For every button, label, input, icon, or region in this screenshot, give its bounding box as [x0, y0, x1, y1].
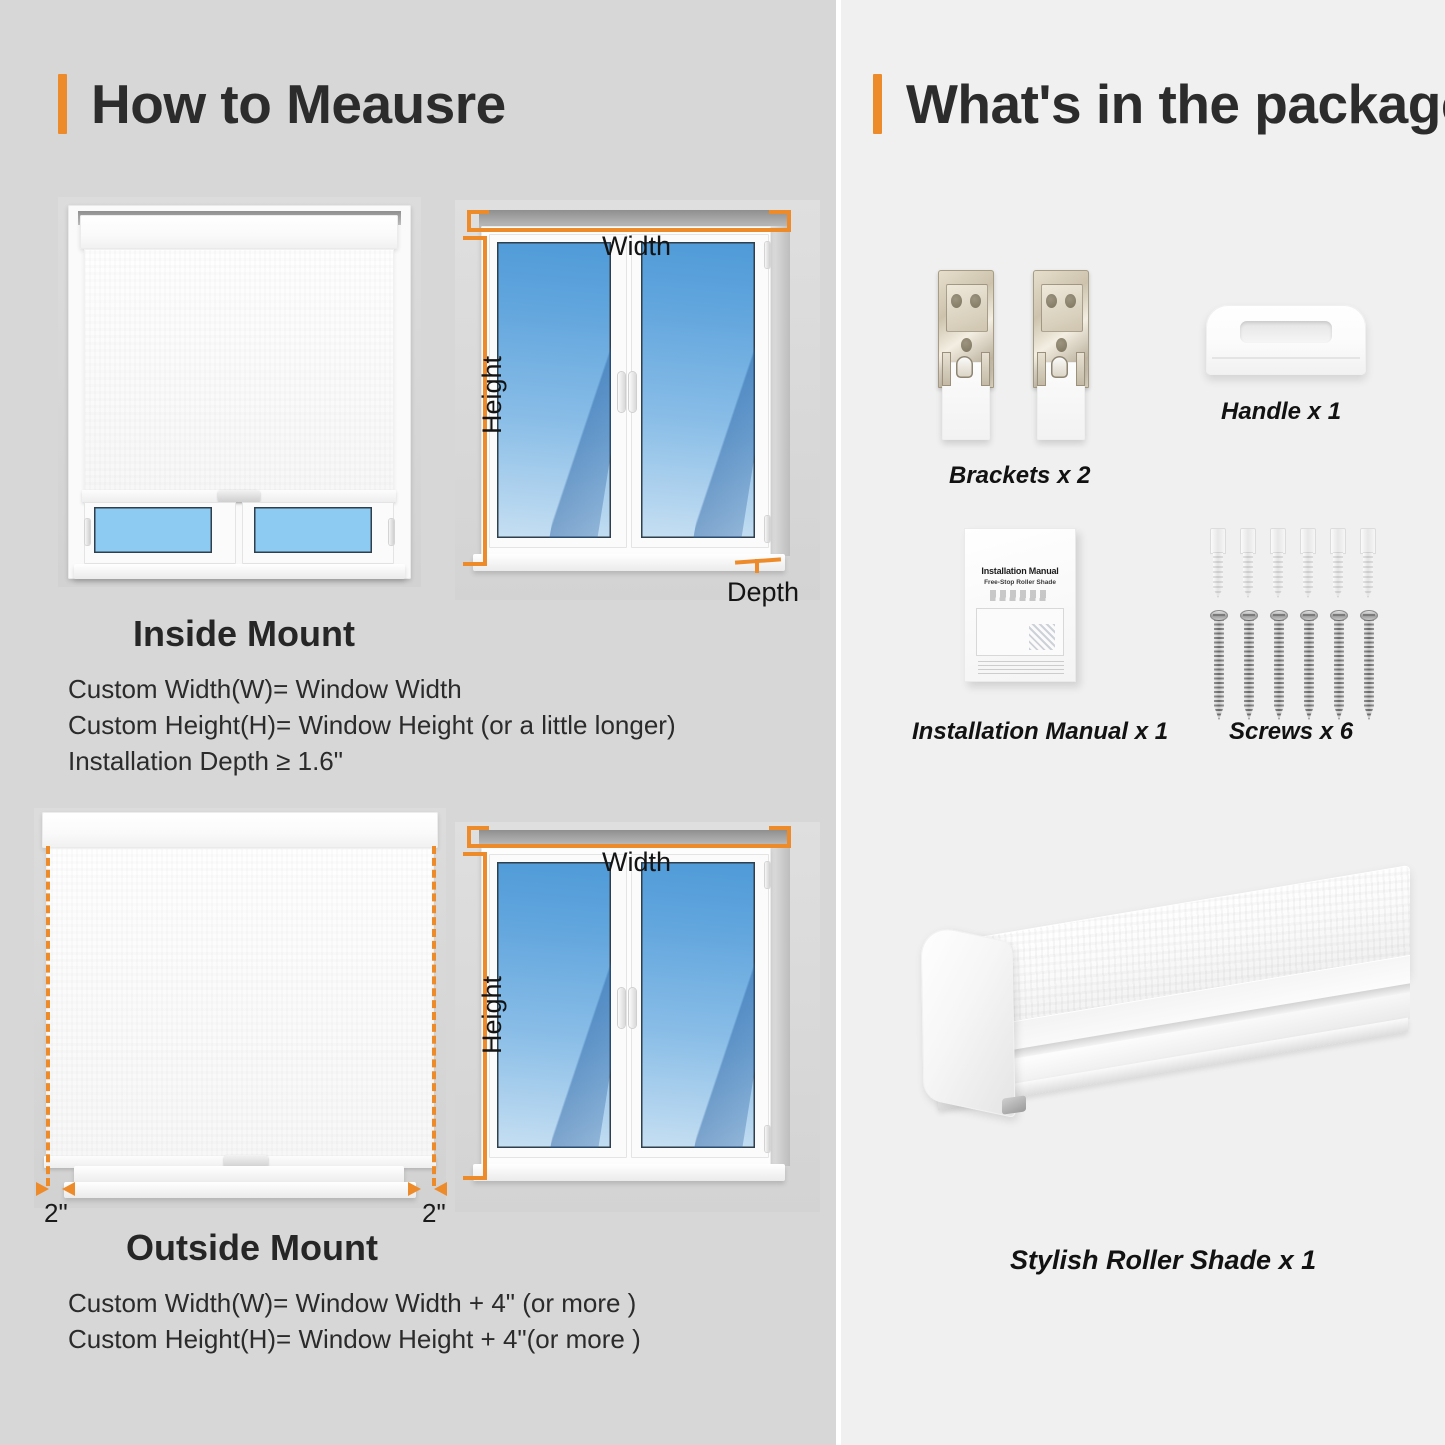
outside-mount-line-1: Custom Width(W)= Window Width + 4" (or m… [68, 1285, 641, 1321]
screw-icon [1330, 610, 1348, 722]
window-hinge-left [85, 519, 90, 545]
window-glass-right [641, 242, 755, 538]
manual-label: Installation Manual x 1 [912, 718, 1168, 746]
window-glass-left [497, 862, 611, 1148]
roller-shade-metal-clip [1002, 1095, 1026, 1114]
inside-mount-description: Custom Width(W)= Window Width Custom Hei… [68, 671, 676, 779]
accent-bar-icon [58, 74, 67, 134]
bracket-hole [1046, 294, 1057, 308]
wall-anchor-icon [1238, 528, 1258, 598]
window-hinge-top-right [765, 242, 770, 268]
window-hinge-top-right [765, 862, 770, 888]
left-overhang-arrow-in [36, 1182, 49, 1196]
window-handle-right [629, 372, 636, 412]
how-to-measure-heading: How to Meausre [58, 72, 506, 136]
manual-cover-subtitle: Free-Stop Roller Shade [973, 579, 1067, 586]
left-overhang-label: 2" [44, 1198, 68, 1229]
window-reveal-right [768, 226, 790, 556]
manual-cover-title: Installation Manual [973, 566, 1067, 576]
wall-anchor-icon [1298, 528, 1318, 598]
right-overhang-guide [432, 846, 436, 1186]
window-handle-right [629, 988, 636, 1028]
bracket-icon [1031, 270, 1091, 440]
roller-shade-end-cap [920, 923, 1015, 1118]
width-measure-tick-right [769, 826, 791, 830]
accent-bar-icon [873, 74, 882, 134]
wall-anchor-icon [1268, 528, 1288, 598]
bracket-hole [951, 294, 962, 308]
right-overhang-label: 2" [422, 1198, 446, 1229]
bracket-hole [1065, 294, 1076, 308]
window-sill [473, 1164, 785, 1181]
height-measure-cap-top [463, 236, 485, 240]
window-sill [74, 564, 405, 579]
window-handle-left [618, 372, 625, 412]
inside-mount-shade-diagram [58, 197, 421, 587]
inside-mount-title: Inside Mount [133, 613, 355, 655]
bracket-hole [961, 338, 972, 352]
screws-label: Screws x 6 [1229, 718, 1353, 746]
outside-mount-line-2: Custom Height(H)= Window Height + 4"(or … [68, 1321, 641, 1357]
screw-icon [1270, 610, 1288, 722]
wall-anchor-icon [1208, 528, 1228, 598]
screw-icon [1300, 610, 1318, 722]
window-glass-right [254, 507, 372, 553]
depth-measure-cap [755, 559, 759, 573]
window-hinge-bottom-right [765, 516, 770, 542]
window-handles [618, 988, 636, 1028]
screw-icon [1210, 610, 1228, 722]
right-overhang-arrow-in [408, 1182, 421, 1196]
infographic-page: How to Meausre What's in the package [0, 0, 1445, 1445]
outside-mount-title: Outside Mount [126, 1227, 378, 1269]
outside-mount-description: Custom Width(W)= Window Width + 4" (or m… [68, 1285, 641, 1357]
handle-label: Handle x 1 [1221, 398, 1341, 426]
shade-cassette [42, 812, 438, 848]
width-label: Width [602, 847, 671, 878]
width-measure-tick-left [467, 210, 489, 214]
inside-mount-measure-diagram: Width Height Depth [455, 200, 820, 600]
screw-icon [1240, 610, 1258, 722]
package-heading-text: What's in the package [906, 72, 1445, 136]
window-hinge-right [389, 519, 394, 545]
package-heading: What's in the package [873, 72, 1445, 136]
bracket-hole [970, 294, 981, 308]
screw-icon [1360, 610, 1378, 722]
bracket-tab-right [1076, 352, 1085, 386]
bracket-tab-left [1037, 352, 1046, 386]
height-measure-cap-top [463, 852, 485, 856]
wall-anchor-icon [1328, 528, 1348, 598]
shade-fabric [84, 249, 394, 492]
window-reveal-right [768, 846, 790, 1166]
left-overhang-guide [46, 846, 50, 1186]
window-glass-left [497, 242, 611, 538]
brackets-label: Brackets x 2 [949, 462, 1090, 490]
handle-slot [1240, 321, 1332, 343]
outside-mount-measure-diagram: Width Height [455, 822, 820, 1212]
height-label: Height [477, 356, 508, 434]
width-measure-tick-left [467, 826, 489, 830]
right-overhang-arrow-out [434, 1182, 447, 1196]
shade-pull-grip [218, 490, 260, 502]
bracket-tab-right [981, 352, 990, 386]
bracket-slot [956, 356, 973, 378]
window-handles [618, 372, 636, 412]
wall-anchor-icon [1358, 528, 1378, 598]
shade-fabric [46, 848, 434, 1158]
manual-icon: Installation Manual Free-Stop Roller Sha… [964, 528, 1076, 682]
inside-mount-line-3: Installation Depth ≥ 1.6" [68, 743, 676, 779]
width-label: Width [602, 231, 671, 262]
depth-label: Depth [727, 577, 799, 608]
handle-icon [1206, 305, 1366, 375]
bracket-slot [1051, 356, 1068, 378]
manual-cover-illustration [976, 608, 1064, 656]
inside-mount-line-2: Custom Height(H)= Window Height (or a li… [68, 707, 676, 743]
window-handle-left [618, 988, 625, 1028]
shade-cassette [80, 215, 398, 249]
inside-mount-line-1: Custom Width(W)= Window Width [68, 671, 676, 707]
bracket-hole [1056, 338, 1067, 352]
left-overhang-arrow-out [62, 1182, 75, 1196]
how-to-measure-heading-text: How to Meausre [91, 72, 506, 136]
roller-shade-icon [930, 905, 1420, 1185]
window-hinge-bottom-right [765, 1126, 770, 1152]
width-measure-tick-right [769, 210, 791, 214]
height-label: Height [477, 976, 508, 1054]
roller-shade-label: Stylish Roller Shade x 1 [1010, 1245, 1316, 1276]
window-glass-left [94, 507, 212, 553]
manual-cover-footer-text [978, 660, 1064, 674]
height-measure-cap-bottom [463, 562, 485, 566]
window-sill-ledge [64, 1182, 416, 1198]
manual-cover-scribble [990, 590, 1048, 601]
bracket-icon [936, 270, 996, 440]
handle-seam [1212, 357, 1360, 359]
window-glass-right [641, 862, 755, 1148]
height-measure-cap-bottom [463, 1176, 485, 1180]
bracket-tab-left [942, 352, 951, 386]
outside-mount-shade-diagram [34, 808, 446, 1208]
